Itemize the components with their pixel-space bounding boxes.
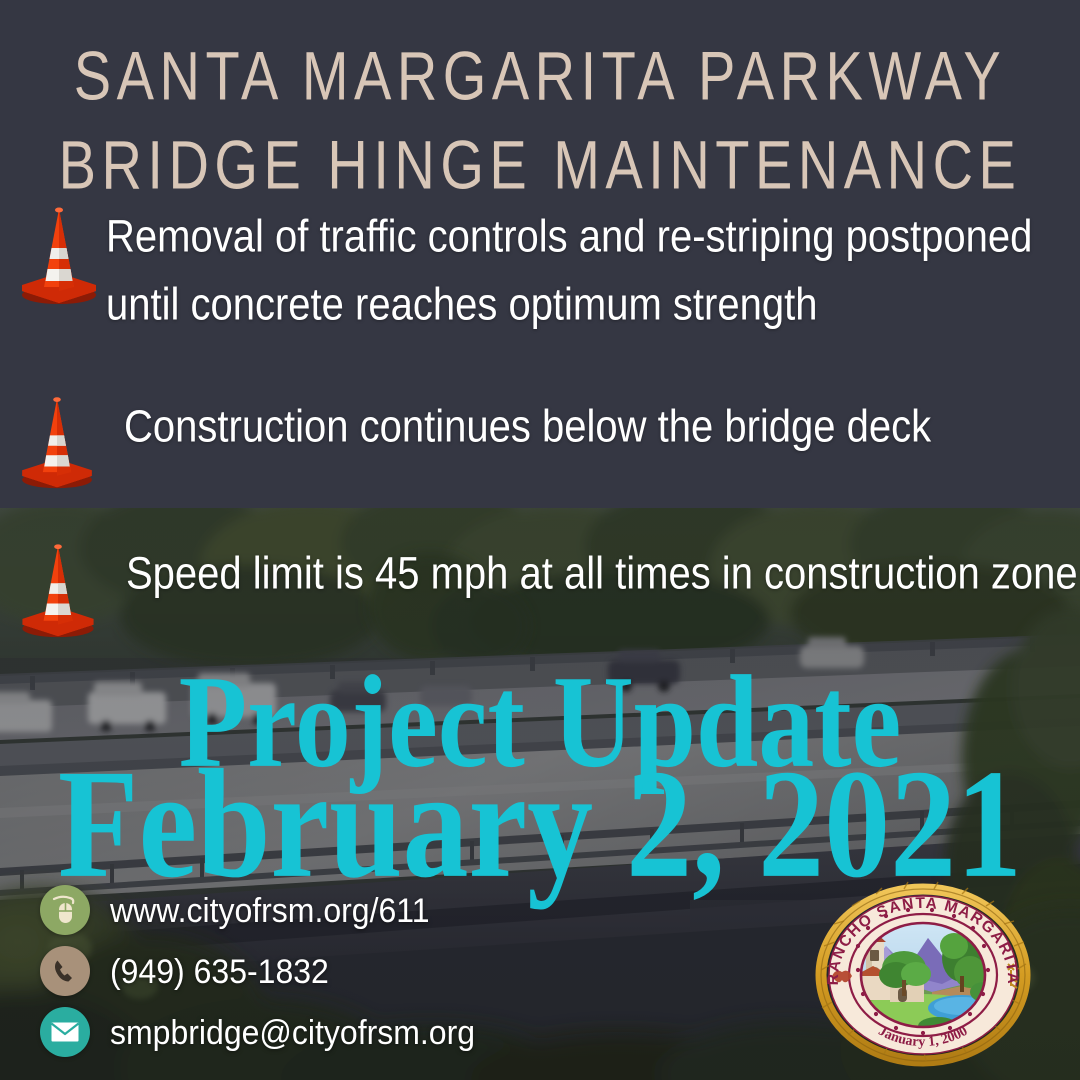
envelope-icon <box>40 1007 90 1057</box>
contact-row-phone[interactable]: (949) 635-1832 <box>40 945 475 997</box>
traffic-cone-icon <box>18 540 98 640</box>
bullet-item-3: Speed limit is 45 mph at all times in co… <box>18 540 1080 640</box>
bullet-text-3: Speed limit is 45 mph at all times in co… <box>126 540 1080 608</box>
contact-text-email[interactable]: smpbridge@cityofrsm.org <box>110 1012 475 1052</box>
page-title: SANTA MARGARITA PARKWAY BRIDGE HINGE MAI… <box>0 30 1080 194</box>
contact-text-website[interactable]: www.cityofrsm.org/611 <box>110 890 430 930</box>
contact-text-phone[interactable]: (949) 635-1832 <box>110 951 329 991</box>
headline-date: February 2, 2021 <box>0 752 1080 895</box>
traffic-cone-icon <box>18 203 100 307</box>
bullet-text-2: Construction continues below the bridge … <box>124 393 1080 461</box>
contact-row-website[interactable]: www.cityofrsm.org/611 <box>40 884 475 936</box>
title-line-2: BRIDGE HINGE MAINTENANCE <box>0 119 1080 211</box>
contact-row-email[interactable]: smpbridge@cityofrsm.org <box>40 1006 475 1058</box>
traffic-cone-icon <box>18 393 96 491</box>
title-line-1: SANTA MARGARITA PARKWAY <box>0 30 1080 122</box>
bullet-item-2: Construction continues below the bridge … <box>18 393 1080 491</box>
computer-mouse-icon <box>40 885 90 935</box>
phone-icon <box>40 946 90 996</box>
bullet-text-1: Removal of traffic controls and re-strip… <box>106 203 1080 339</box>
bullet-item-1: Removal of traffic controls and re-strip… <box>18 203 1080 323</box>
rancho-santa-margarita-seal: RANCHO SANTA MARGARITA January 1, 2000 <box>812 880 1034 1070</box>
contact-list: www.cityofrsm.org/611 (949) 635-1832 smp… <box>40 884 475 1067</box>
city-seal-logo: RANCHO SANTA MARGARITA January 1, 2000 <box>812 880 1034 1070</box>
poster-canvas: SANTA MARGARITA PARKWAY BRIDGE HINGE MAI… <box>0 0 1080 1080</box>
